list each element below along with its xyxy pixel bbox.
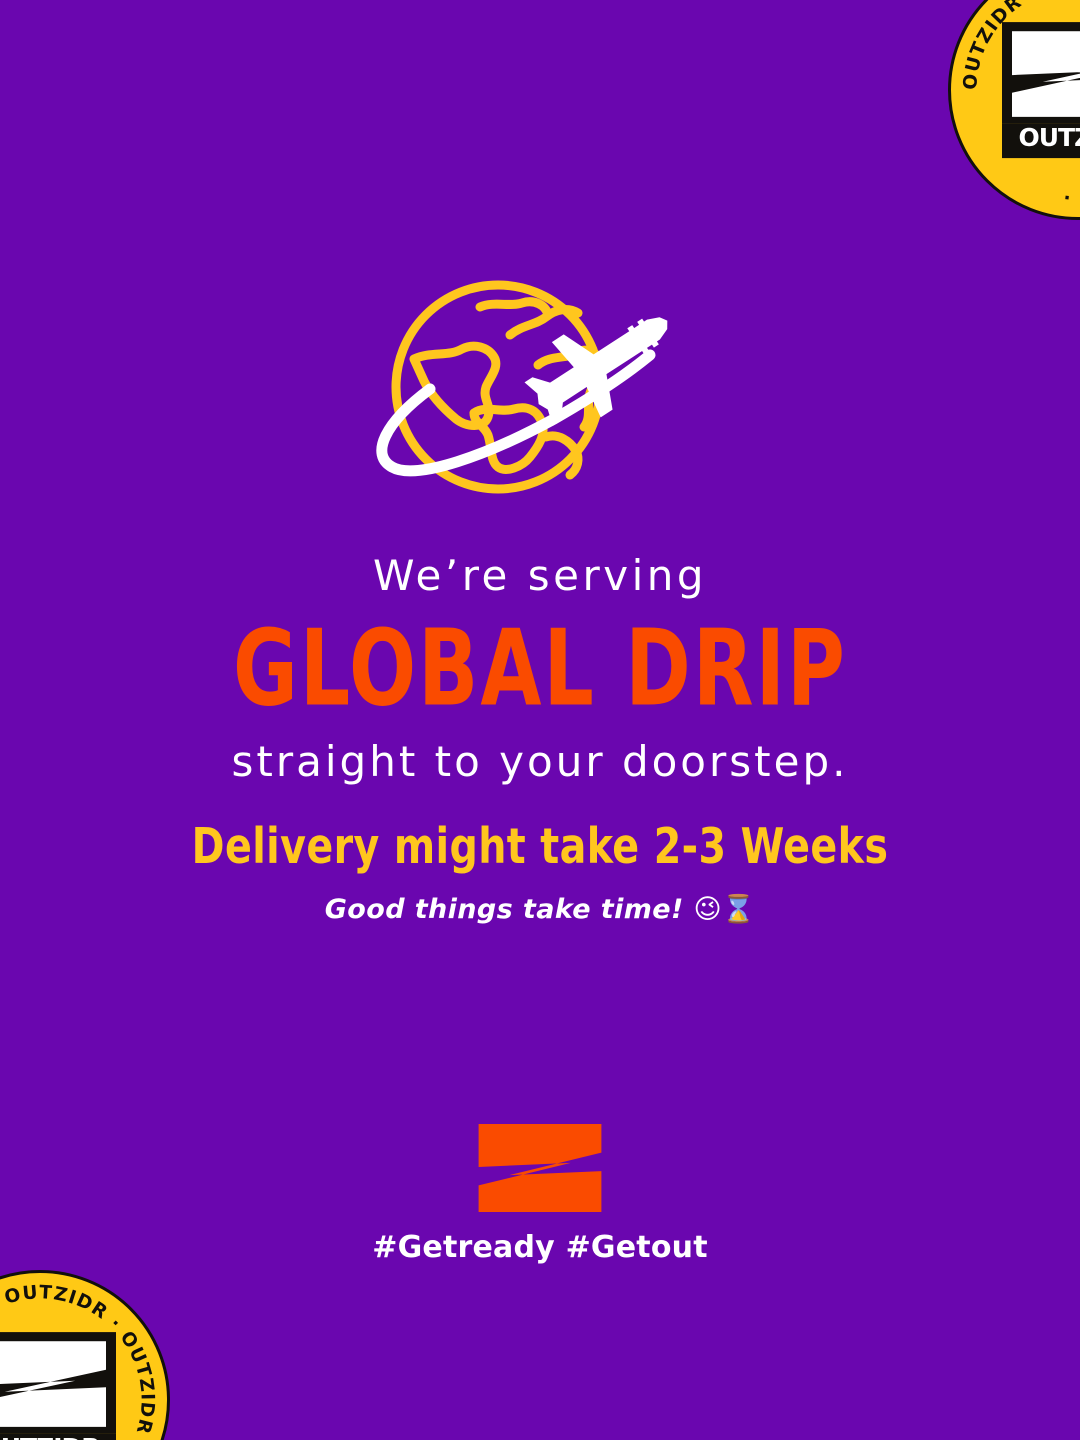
delivery-subtext-row: Good things take time! 😉⌛: [0, 893, 1080, 925]
globe-with-airplane-icon: [370, 277, 710, 507]
seal-wordmark-top-right: OUTZIDR: [1012, 125, 1080, 150]
outzidr-z-logo: [478, 1124, 602, 1212]
delivery-note-block: Delivery might take 2-3 Weeks Good thing…: [0, 818, 1080, 925]
footer-hashtags: #Getready #Getout: [0, 1230, 1080, 1265]
seal-z-plate-bottom-left: [0, 1332, 116, 1433]
seal-core-bottom-left: OUTZIDR: [0, 1332, 116, 1440]
delivery-headline: Delivery might take 2-3 Weeks: [0, 818, 1080, 877]
seal-wordmark-plate-bottom-left: OUTZIDR: [0, 1433, 116, 1440]
outzidr-z-icon: [1012, 31, 1080, 117]
outzidr-z-icon: [478, 1124, 602, 1212]
hero-copy-block: We’re serving GLOBAL DRIP straight to yo…: [0, 552, 1080, 786]
promo-poster: OUTZIDR · OUTZIDR · OUTZIDR · OUTZIDR · …: [0, 0, 1080, 1440]
outzidr-z-icon: [0, 1341, 106, 1427]
outzidr-seal-bottom-left: OUTZIDR · OUTZIDR · OUTZIDR · OUTZIDR · …: [0, 1270, 170, 1440]
delivery-subtext: Good things take time!: [325, 894, 684, 925]
seal-wordmark-bottom-left: OUTZIDR: [0, 1435, 106, 1440]
hero-kicker: We’re serving: [0, 552, 1080, 600]
footer-block: #Getready #Getout: [0, 1124, 1080, 1265]
seal-core-top-right: OUTZIDR: [1002, 22, 1080, 158]
seal-wordmark-plate-top-right: OUTZIDR: [1002, 123, 1080, 158]
delivery-emoji: 😉⌛: [694, 894, 756, 925]
hero-subline: straight to your doorstep.: [0, 738, 1080, 786]
globe-airplane-illustration: [0, 272, 1080, 512]
hero-headline: GLOBAL DRIP: [0, 608, 1080, 732]
seal-z-plate-top-right: [1002, 22, 1080, 123]
outzidr-seal-top-right: OUTZIDR · OUTZIDR · OUTZIDR · OUTZIDR · …: [948, 0, 1080, 220]
